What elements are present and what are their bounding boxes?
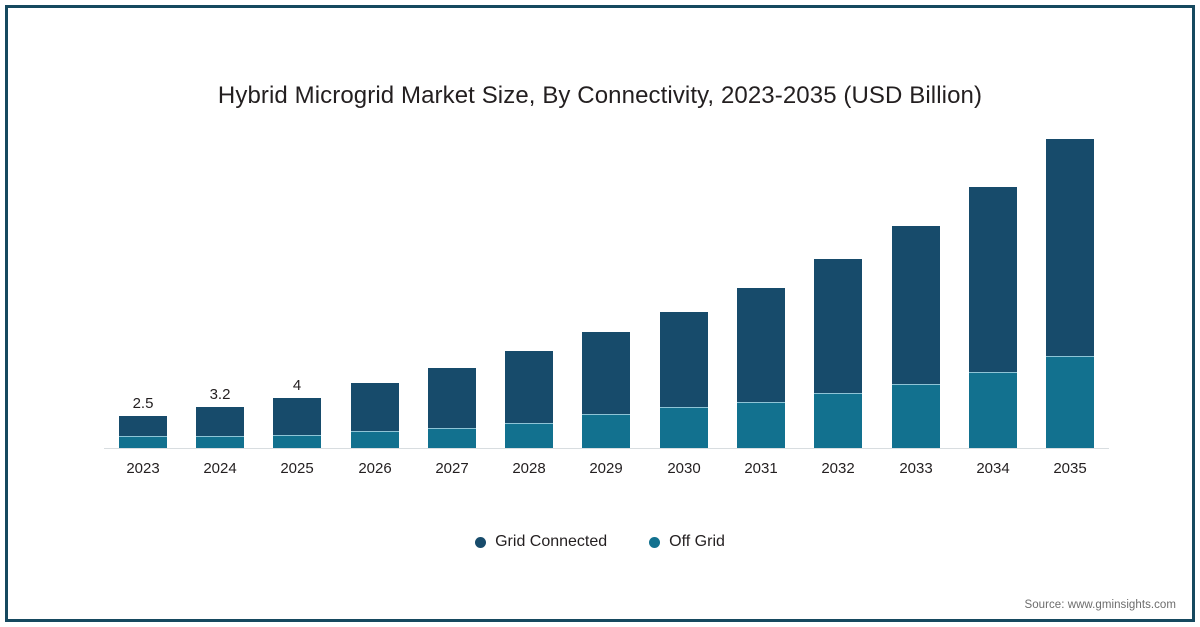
bar-segment-off-grid[interactable] — [814, 393, 862, 448]
bar-segment-grid-connected[interactable] — [660, 312, 708, 407]
x-tick-2027: 2027 — [414, 460, 490, 477]
x-tick-2026: 2026 — [337, 460, 413, 477]
x-tick-2029: 2029 — [568, 460, 644, 477]
bar-group-2025[interactable]: 4 — [273, 398, 321, 448]
bar-segment-off-grid[interactable] — [737, 402, 785, 448]
bar-value-label-2023: 2.5 — [105, 395, 181, 412]
source-attribution: Source: www.gminsights.com — [1025, 599, 1177, 611]
circle-marker-icon — [649, 537, 660, 548]
bar-segment-grid-connected[interactable] — [814, 259, 862, 393]
bar-value-label-2024: 3.2 — [182, 386, 258, 403]
bar-segment-off-grid[interactable] — [1046, 356, 1094, 448]
x-tick-2028: 2028 — [491, 460, 567, 477]
x-tick-2035: 2035 — [1032, 460, 1108, 477]
bar-segment-grid-connected[interactable] — [196, 407, 244, 436]
circle-marker-icon — [475, 537, 486, 548]
x-tick-2030: 2030 — [646, 460, 722, 477]
legend-item-grid-connected[interactable]: Grid Connected — [475, 533, 607, 551]
plot-area: 2.53.24 — [104, 128, 1109, 449]
bar-segment-off-grid[interactable] — [196, 436, 244, 448]
bar-group-2026[interactable] — [351, 383, 399, 448]
bar-segment-off-grid[interactable] — [351, 431, 399, 448]
bar-group-2034[interactable] — [969, 187, 1017, 448]
x-tick-2024: 2024 — [182, 460, 258, 477]
x-tick-2034: 2034 — [955, 460, 1031, 477]
legend-label: Grid Connected — [495, 533, 607, 551]
bar-segment-grid-connected[interactable] — [273, 398, 321, 435]
bar-group-2035[interactable] — [1046, 139, 1094, 448]
bar-segment-off-grid[interactable] — [428, 428, 476, 448]
bar-segment-off-grid[interactable] — [119, 436, 167, 448]
bar-group-2031[interactable] — [737, 288, 785, 448]
bar-value-label-2025: 4 — [259, 377, 335, 394]
bar-group-2033[interactable] — [892, 226, 940, 448]
chart-frame: Hybrid Microgrid Market Size, By Connect… — [5, 5, 1195, 622]
bar-segment-off-grid[interactable] — [505, 423, 553, 448]
bar-group-2027[interactable] — [428, 368, 476, 448]
bar-segment-grid-connected[interactable] — [892, 226, 940, 384]
bar-group-2024[interactable]: 3.2 — [196, 407, 244, 448]
bar-segment-off-grid[interactable] — [660, 407, 708, 448]
bar-segment-off-grid[interactable] — [273, 435, 321, 448]
chart-legend: Grid Connected Off Grid — [8, 533, 1192, 551]
legend-label: Off Grid — [669, 533, 725, 551]
bar-segment-grid-connected[interactable] — [969, 187, 1017, 372]
bar-segment-off-grid[interactable] — [582, 414, 630, 448]
bar-segment-grid-connected[interactable] — [1046, 139, 1094, 356]
bar-segment-grid-connected[interactable] — [119, 416, 167, 436]
x-tick-2031: 2031 — [723, 460, 799, 477]
x-tick-2025: 2025 — [259, 460, 335, 477]
x-tick-2023: 2023 — [105, 460, 181, 477]
bar-segment-off-grid[interactable] — [969, 372, 1017, 448]
bar-segment-grid-connected[interactable] — [582, 332, 630, 414]
bar-segment-grid-connected[interactable] — [428, 368, 476, 428]
bar-group-2029[interactable] — [582, 332, 630, 448]
bar-group-2028[interactable] — [505, 351, 553, 448]
bar-group-2032[interactable] — [814, 259, 862, 448]
x-tick-2032: 2032 — [800, 460, 876, 477]
bar-segment-grid-connected[interactable] — [737, 288, 785, 402]
bar-segment-grid-connected[interactable] — [505, 351, 553, 423]
bar-segment-off-grid[interactable] — [892, 384, 940, 448]
bar-group-2030[interactable] — [660, 312, 708, 448]
chart-title: Hybrid Microgrid Market Size, By Connect… — [8, 82, 1192, 110]
bar-group-2023[interactable]: 2.5 — [119, 416, 167, 448]
legend-item-off-grid[interactable]: Off Grid — [649, 533, 725, 551]
bar-segment-grid-connected[interactable] — [351, 383, 399, 431]
x-axis-line — [104, 448, 1109, 449]
x-axis-tick-labels: 2023202420252026202720282029203020312032… — [104, 460, 1109, 484]
x-tick-2033: 2033 — [878, 460, 954, 477]
